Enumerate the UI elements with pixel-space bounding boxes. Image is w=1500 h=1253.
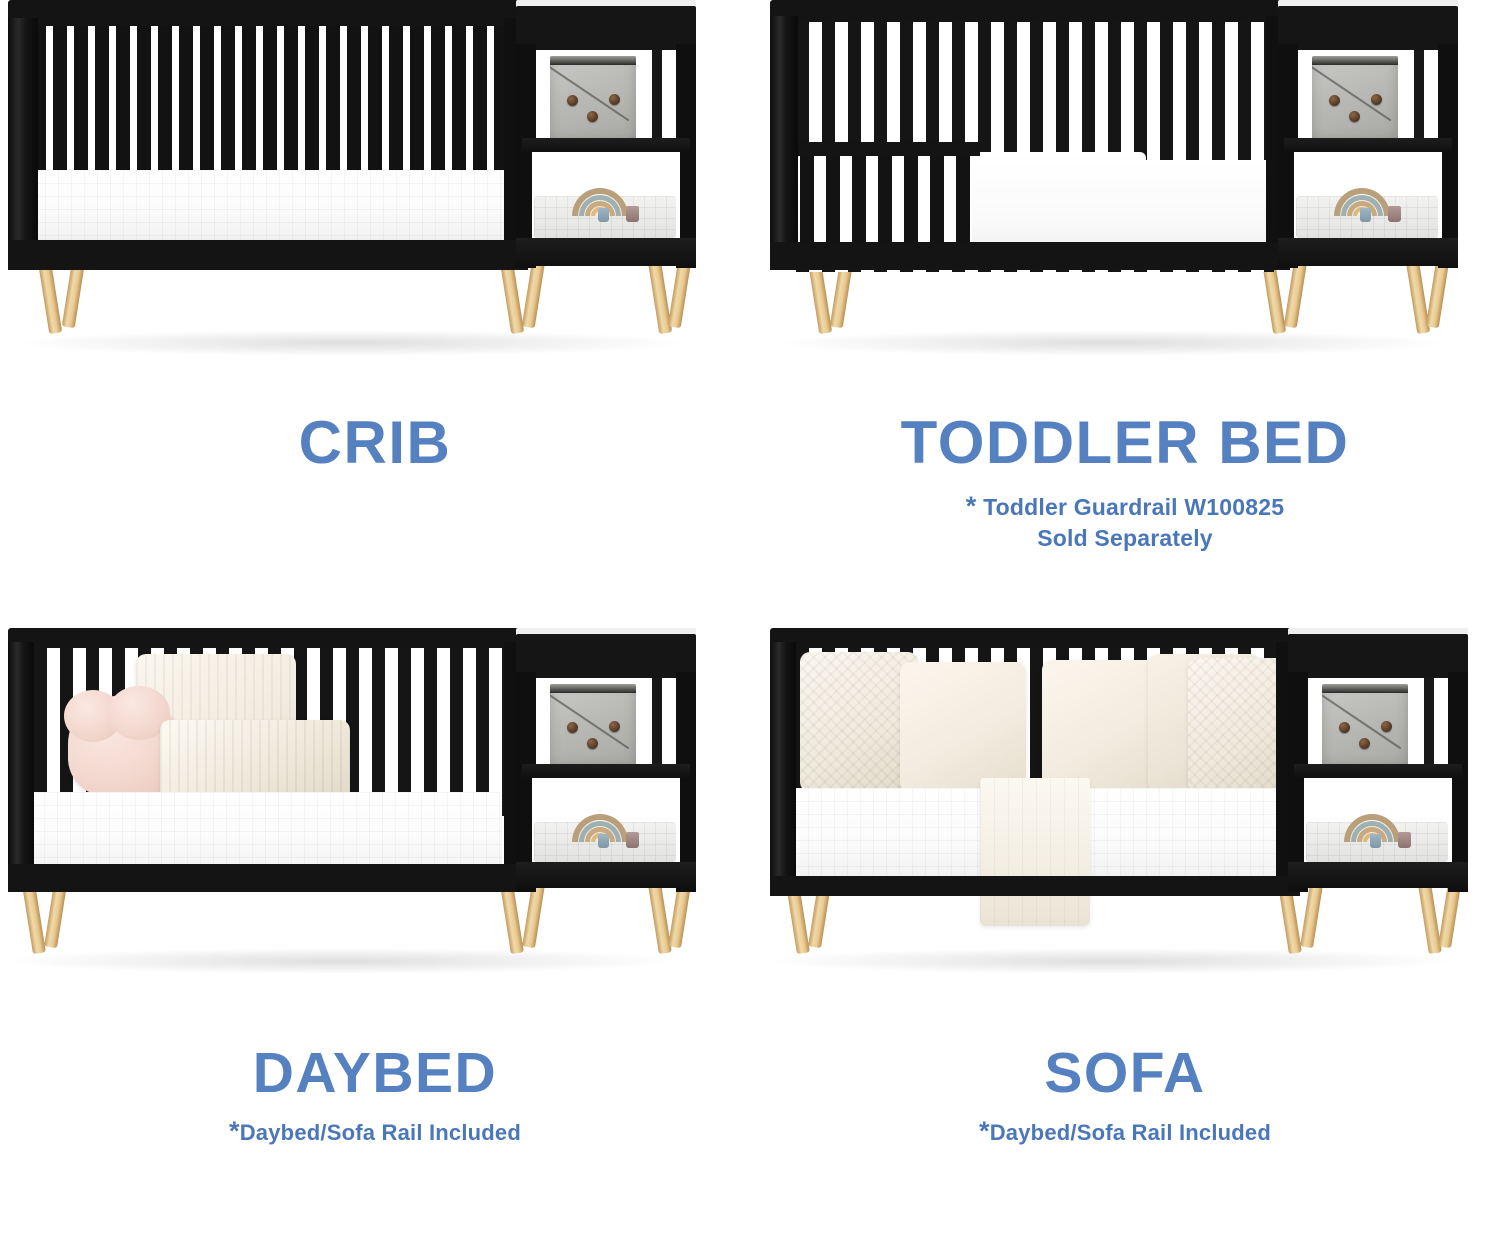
crib-bottom-rail [8,240,528,270]
sf-throw-blanket [980,778,1090,926]
tower-inner-post [1424,678,1434,766]
crib-title: CRIB [0,412,750,473]
bin-lip [550,684,636,693]
bin-button-1 [1329,95,1340,106]
tower-inner-post [1414,50,1424,140]
toddler-bed-caption: TODDLER BED * Toddler Guardrail W100825 … [750,412,1500,553]
tower-top-frame [516,6,696,50]
sofa-note-text: Daybed/Sofa Rail Included [990,1120,1271,1145]
crib-product-image [0,0,750,360]
daybed-frame [8,628,528,900]
panel-daybed: DAYBED *Daybed/Sofa Rail Included [0,628,750,1253]
toddler-bed-frame [770,0,1290,278]
toddler-bed-product-image [750,0,1500,360]
crib-mattress [32,170,512,242]
crib-storage-tower [516,0,696,280]
floor-shadow [10,948,670,974]
crib-caption: CRIB [0,412,750,473]
sofa-caption: SOFA *Daybed/Sofa Rail Included [750,1044,1500,1149]
db-left-post [8,642,34,886]
sofa-storage-tower [1288,628,1468,902]
bin-lip [550,56,636,65]
bin-button-1 [1339,722,1350,733]
toddler-bed-note: * Toddler Guardrail W100825 Sold Separat… [750,489,1500,553]
bin-button-1 [567,95,578,106]
toy-peg-mauve [1388,206,1401,222]
panel-crib: CRIB [0,0,750,620]
daybed-product-image [0,628,750,978]
db-pillow-lumbar-cream [160,720,350,802]
daybed-note: *Daybed/Sofa Rail Included [0,1114,750,1149]
bin-button-2 [609,721,620,732]
sofa-title: SOFA [750,1044,1500,1102]
storage-bin-felt [550,684,636,766]
crib-frame [8,0,528,278]
panel-toddler-bed: TODDLER BED * Toddler Guardrail W100825 … [750,0,1500,620]
tower-middle-shelf [522,764,690,778]
bin-button-3 [587,111,598,122]
toy-peg-blue [1360,208,1371,222]
tower-inner-post [652,678,662,766]
tower-base [516,862,696,888]
toy-peg-blue [598,834,609,848]
toddler-bed-note-line2: Sold Separately [1037,525,1213,551]
daybed-caption: DAYBED *Daybed/Sofa Rail Included [0,1044,750,1149]
crib-slats-upper [32,26,512,170]
tower-base [1288,862,1468,888]
tower-inner-post [652,50,662,140]
db-top-rail [8,628,528,650]
toy-peg-mauve [626,832,639,848]
toddler-bed-storage-tower [1278,0,1458,280]
toy-peg-blue [598,208,609,222]
tb-top-rail [770,0,1290,24]
tb-guardrail-top [792,142,980,156]
sofa-product-image [750,628,1500,978]
toy-peg-blue [1370,834,1381,848]
tower-middle-shelf [1284,138,1452,152]
storage-bin-felt [1312,56,1398,140]
bin-button-2 [609,94,620,105]
sofa-frame [770,628,1300,900]
daybed-note-text: Daybed/Sofa Rail Included [240,1120,521,1145]
toy-peg-mauve [1398,832,1411,848]
toy-peg-mauve [626,206,639,222]
bin-button-3 [587,738,598,749]
floor-shadow [770,948,1450,974]
tower-base [1278,238,1458,266]
storage-bin-felt [1322,684,1408,766]
bin-button-3 [1349,111,1360,122]
panel-sofa: SOFA *Daybed/Sofa Rail Included [750,628,1500,1253]
bin-button-1 [567,722,578,733]
tower-middle-shelf [1294,764,1462,778]
asterisk-icon: * [979,1116,990,1146]
daybed-title: DAYBED [0,1044,750,1102]
tower-middle-shelf [522,138,690,152]
floor-shadow [20,330,680,356]
tb-back-slats-upper [796,22,1274,150]
bin-button-3 [1359,738,1370,749]
asterisk-icon: * [966,491,977,521]
sf-base-rail [770,876,1300,896]
bin-button-2 [1371,94,1382,105]
tower-top-frame [516,634,696,678]
sf-left-post [770,642,796,886]
asterisk-icon: * [229,1116,240,1146]
sofa-note: *Daybed/Sofa Rail Included [750,1114,1500,1149]
crib-top-rail [8,0,528,26]
sf-pillow-2 [900,662,1026,792]
db-front-rail [8,864,528,892]
sf-top-rail [770,628,1300,650]
conversion-options-infographic: CRIB [0,0,1500,1253]
daybed-storage-tower [516,628,696,902]
storage-bin-felt [550,56,636,140]
tb-bottom-rail [770,242,1290,270]
floor-shadow [780,330,1440,356]
crib-left-post [8,18,38,262]
tb-guardrail-slats [800,156,972,248]
tower-base [516,238,696,266]
tb-left-post [770,16,798,262]
toddler-bed-note-line1: Toddler Guardrail W100825 [983,494,1284,520]
bin-button-2 [1381,721,1392,732]
tower-top-frame [1288,634,1468,678]
tower-top-frame [1278,6,1458,50]
toddler-bed-title: TODDLER BED [750,412,1500,473]
bin-lip [1312,56,1398,65]
bin-lip [1322,684,1408,693]
